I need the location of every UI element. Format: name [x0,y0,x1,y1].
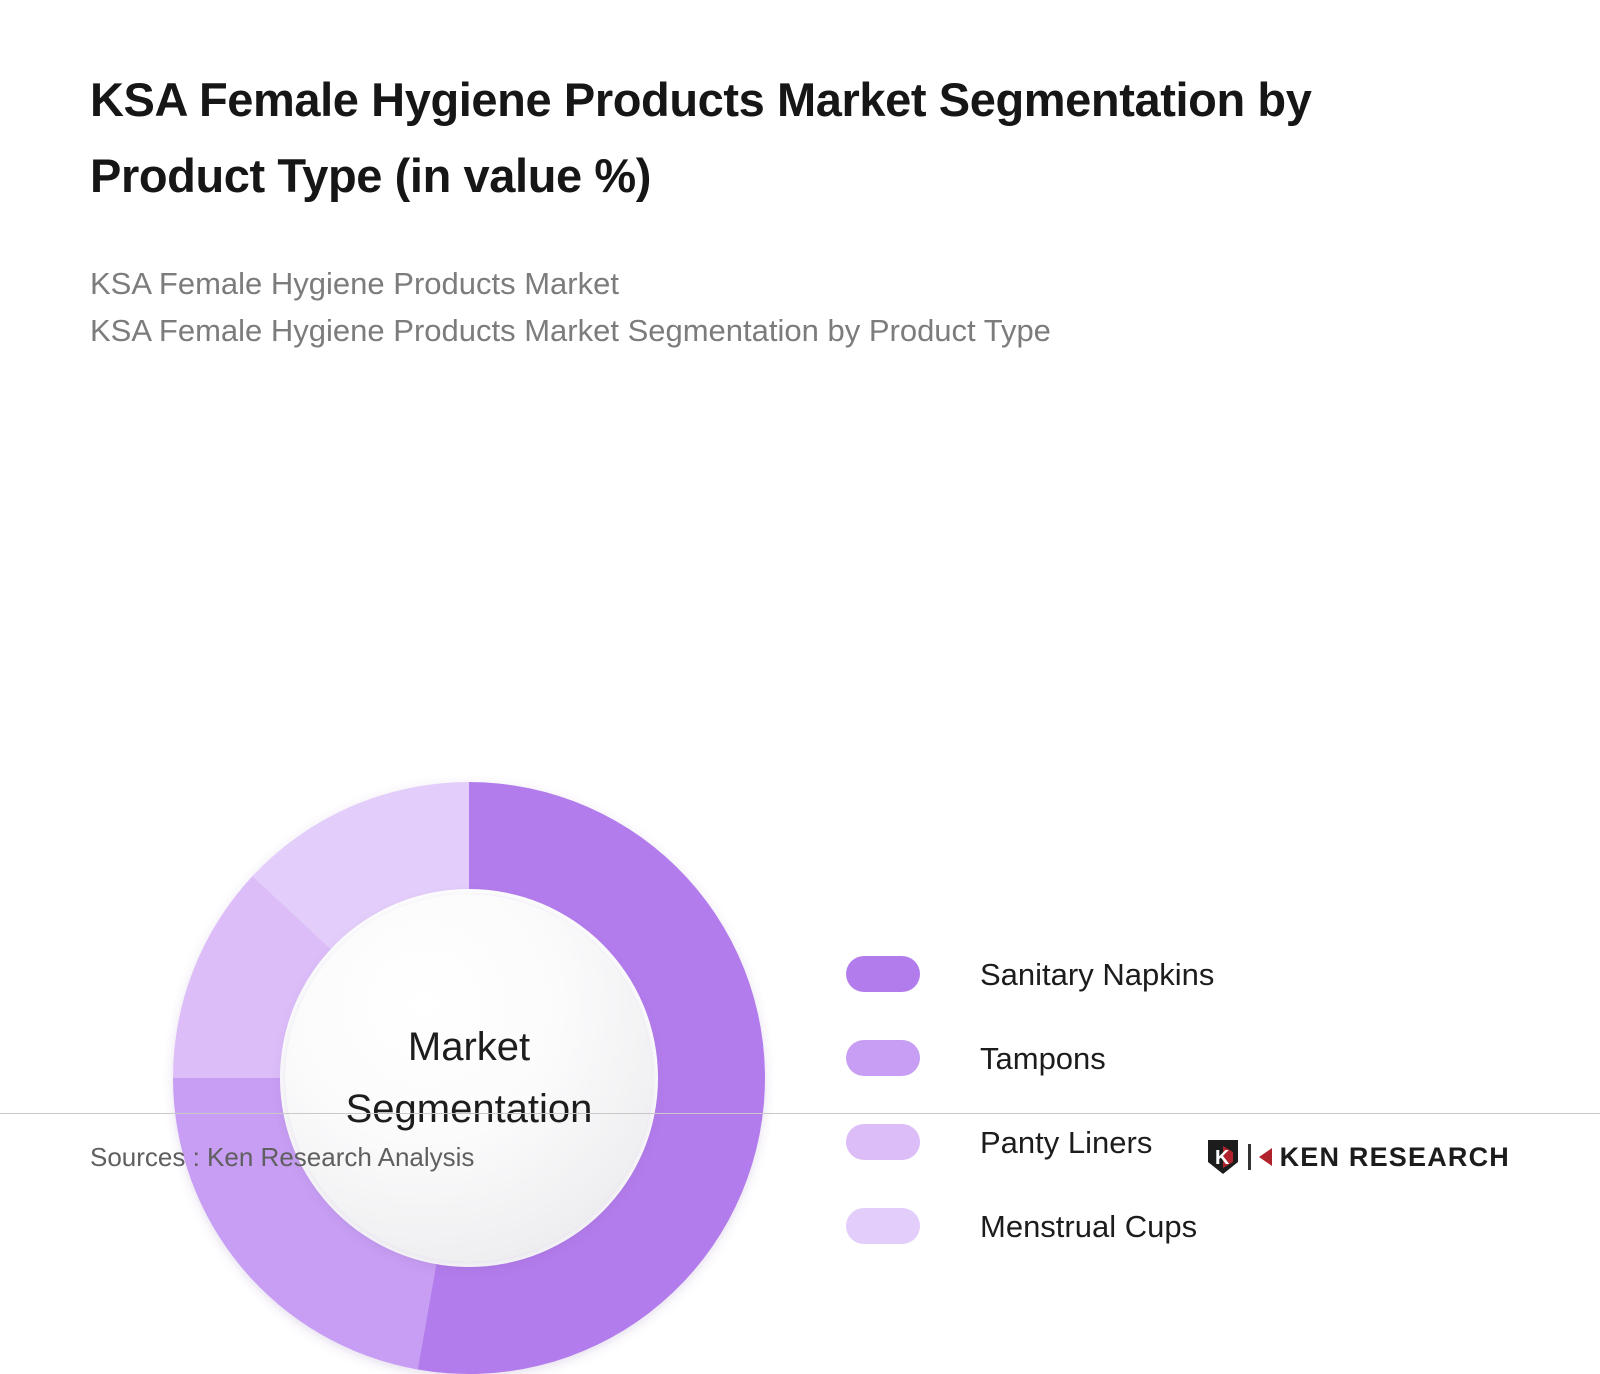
donut-center-hub: Market Segmentation [285,894,653,1262]
subtitle-line-market: KSA Female Hygiene Products Market [90,260,1510,307]
legend-item[interactable]: Sanitary Napkins [846,932,1366,1016]
brand-name-text: KEN RESEARCH [1280,1142,1510,1173]
logo-divider [1248,1144,1251,1170]
legend-swatch-icon [846,1208,920,1244]
page-title: KSA Female Hygiene Products Market Segme… [90,62,1450,214]
slide-header: KSA Female Hygiene Products Market Segme… [0,0,1600,354]
legend-swatch-icon [846,956,920,992]
chart-content-area: Market Segmentation Sanitary NapkinsTamp… [0,354,1600,1200]
svg-text:K: K [1215,1147,1230,1169]
legend-item-label: Sanitary Napkins [980,959,1214,990]
footer-sources-text: Sources : Ken Research Analysis [90,1142,474,1173]
subtitle-line-segmentation: KSA Female Hygiene Products Market Segme… [90,307,1510,354]
legend-item-label: Menstrual Cups [980,1211,1197,1242]
donut-center-line-1: Market [408,1016,530,1078]
legend-swatch-icon [846,1040,920,1076]
logo-caret-icon [1259,1148,1272,1166]
legend-item-label: Tampons [980,1043,1106,1074]
slide-root: KSA Female Hygiene Products Market Segme… [0,0,1600,1200]
slide-footer: Sources : Ken Research Analysis K KEN RE… [0,1114,1600,1200]
legend-item[interactable]: Tampons [846,1016,1366,1100]
donut-chart: Market Segmentation [173,782,765,1374]
chart-legend: Sanitary NapkinsTamponsPanty LinersMenst… [846,932,1366,1268]
ken-shield-icon: K [1206,1138,1240,1176]
ken-research-logo: K KEN RESEARCH [1206,1138,1510,1176]
subtitle-block: KSA Female Hygiene Products Market KSA F… [90,260,1510,354]
